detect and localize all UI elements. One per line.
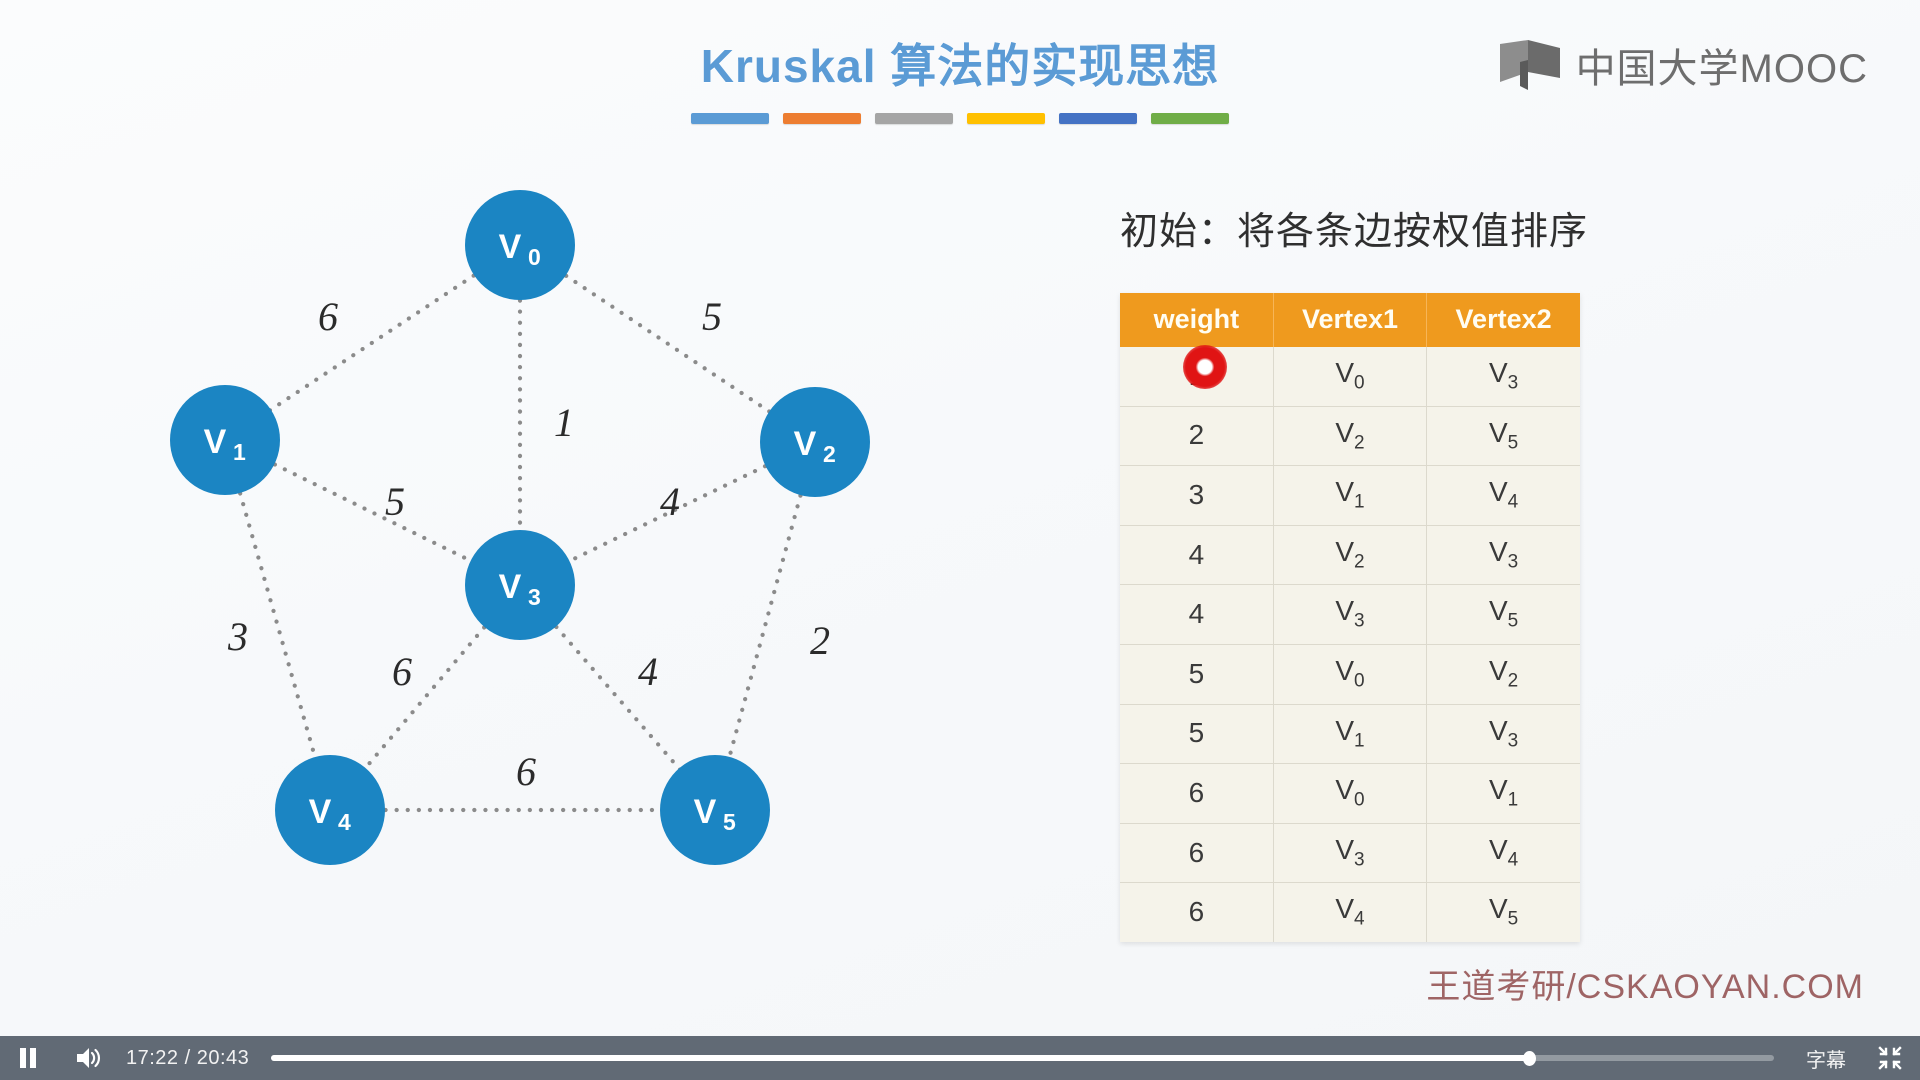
node-v4-label: V	[309, 793, 332, 831]
edge-v2-v5	[715, 442, 815, 810]
graph-node-v4[interactable]: V 4	[275, 755, 385, 865]
table-row[interactable]: 2V2V5	[1120, 406, 1580, 466]
cell-vertex1-index: 0	[1354, 671, 1365, 692]
cell-vertex2-index: 3	[1508, 551, 1519, 572]
cell-vertex2-index: 1	[1508, 790, 1519, 811]
init-caption: 初始：将各条边按权值排序	[1120, 200, 1840, 255]
cell-vertex1-letter: V	[1335, 476, 1354, 507]
cell-vertex2-letter: V	[1489, 417, 1508, 448]
cell-vertex2: V5	[1427, 406, 1580, 466]
underline-seg-1	[691, 113, 769, 124]
cell-weight: 4	[1120, 525, 1273, 585]
cell-vertex1-letter: V	[1335, 834, 1354, 865]
underline-seg-6	[1151, 113, 1229, 124]
cell-vertex2: V3	[1427, 525, 1580, 585]
edge-weight-v1-v4: 3	[227, 614, 248, 659]
cell-vertex1: V3	[1273, 823, 1426, 883]
node-v5-label: V	[694, 793, 717, 831]
cell-vertex2-letter: V	[1489, 834, 1508, 865]
table-row[interactable]: 3V1V4	[1120, 466, 1580, 526]
cell-vertex1-index: 3	[1354, 849, 1365, 870]
node-v4-sub: 4	[338, 809, 351, 835]
cell-vertex2: V5	[1427, 883, 1580, 942]
video-player-controls: 17:22 / 20:43 字幕	[0, 1036, 1920, 1080]
table-row[interactable]: 6V0V1	[1120, 764, 1580, 824]
cell-vertex1: V0	[1273, 644, 1426, 704]
table-row[interactable]: 6V4V5	[1120, 883, 1580, 942]
node-v0-label: V	[499, 228, 522, 266]
fullscreen-button[interactable]	[1860, 1046, 1920, 1070]
cell-weight: 5	[1120, 704, 1273, 764]
graph-node-v5[interactable]: V 5	[660, 755, 770, 865]
node-v2-sub: 2	[823, 441, 836, 467]
cell-vertex2-index: 5	[1508, 611, 1519, 632]
title-underline-bars	[680, 113, 1240, 124]
column-header-vertex1[interactable]: Vertex1	[1273, 293, 1426, 347]
cell-vertex1-index: 2	[1354, 432, 1365, 453]
cell-vertex2: V1	[1427, 764, 1580, 824]
sorted-edge-table: weight Vertex1 Vertex2 1V0V32V2V53V1V44V…	[1120, 293, 1580, 942]
cell-vertex1-letter: V	[1335, 595, 1354, 626]
node-v1-label: V	[204, 423, 227, 461]
edge-weight-v3-v4: 6	[392, 649, 412, 694]
cell-vertex1-index: 0	[1354, 790, 1365, 811]
column-header-vertex2[interactable]: Vertex2	[1427, 293, 1580, 347]
edge-weight-v1-v3: 5	[385, 479, 405, 524]
edge-weight-v4-v5: 6	[516, 749, 536, 794]
cell-weight: 2	[1120, 406, 1273, 466]
progress-bar-thumb[interactable]	[1523, 1051, 1536, 1066]
volume-on-icon	[76, 1047, 102, 1069]
cell-weight: 1	[1120, 347, 1273, 406]
cell-vertex1: V0	[1273, 764, 1426, 824]
progress-bar-track[interactable]	[271, 1055, 1774, 1061]
cell-weight: 5	[1120, 644, 1273, 704]
cell-vertex1-letter: V	[1335, 774, 1354, 805]
table-row[interactable]: 4V3V5	[1120, 585, 1580, 645]
cell-vertex2-letter: V	[1489, 595, 1508, 626]
node-v1-sub: 1	[233, 439, 246, 465]
table-row[interactable]: 1V0V3	[1120, 347, 1580, 406]
cell-vertex1: V4	[1273, 883, 1426, 942]
table-row[interactable]: 6V3V4	[1120, 823, 1580, 883]
cell-vertex2: V3	[1427, 347, 1580, 406]
node-v3-label: V	[499, 568, 522, 606]
cell-weight: 3	[1120, 466, 1273, 526]
cell-vertex1-letter: V	[1335, 655, 1354, 686]
volume-button[interactable]	[60, 1036, 118, 1080]
edge-weight-v2-v5: 2	[810, 618, 830, 663]
table-header-row: weight Vertex1 Vertex2	[1120, 293, 1580, 347]
graph-node-v2[interactable]: V 2	[760, 387, 870, 497]
cell-vertex1: V0	[1273, 347, 1426, 406]
cell-vertex2-letter: V	[1489, 476, 1508, 507]
underline-seg-2	[783, 113, 861, 124]
graph-node-v1[interactable]: V 1	[170, 385, 280, 495]
cell-vertex2-letter: V	[1489, 655, 1508, 686]
underline-seg-5	[1059, 113, 1137, 124]
cell-vertex1: V3	[1273, 585, 1426, 645]
cell-vertex2-letter: V	[1489, 715, 1508, 746]
edge-weight-v2-v3: 4	[660, 479, 680, 524]
mooc-logo-text: 中国大学MOOC	[1576, 36, 1868, 94]
cell-vertex1: V1	[1273, 466, 1426, 526]
cell-vertex2-letter: V	[1489, 357, 1508, 388]
cell-vertex1: V1	[1273, 704, 1426, 764]
edge-weight-v0-v1: 6	[318, 294, 338, 339]
column-header-weight[interactable]: weight	[1120, 293, 1273, 347]
cell-weight: 6	[1120, 764, 1273, 824]
edge-weight-v0-v2: 5	[702, 294, 722, 339]
right-panel: 初始：将各条边按权值排序 weight Vertex1 Vertex2 1V0V…	[1120, 200, 1840, 942]
weighted-graph-diagram: 6 5 1 5 4 3 2 6 4 6 V 0	[40, 170, 1060, 960]
edge-table-body: 1V0V32V2V53V1V44V2V34V3V55V0V25V1V36V0V1…	[1120, 347, 1580, 942]
table-row[interactable]: 5V0V2	[1120, 644, 1580, 704]
graph-node-v3[interactable]: V 3	[465, 530, 575, 640]
slide-canvas: Kruskal 算法的实现思想 中国大学MOOC	[0, 0, 1920, 1042]
cell-vertex2-index: 3	[1508, 373, 1519, 394]
cell-vertex2-index: 5	[1508, 909, 1519, 930]
cell-vertex1-letter: V	[1335, 893, 1354, 924]
cell-vertex2: V2	[1427, 644, 1580, 704]
cell-vertex2-letter: V	[1489, 774, 1508, 805]
graph-edges	[225, 245, 815, 810]
underline-seg-4	[967, 113, 1045, 124]
book-icon	[1498, 38, 1562, 92]
cell-vertex1-index: 2	[1354, 551, 1365, 572]
node-v5-sub: 5	[723, 809, 736, 835]
cell-vertex2-index: 4	[1508, 492, 1519, 513]
cell-vertex1-index: 0	[1354, 373, 1365, 394]
cell-weight: 6	[1120, 883, 1273, 942]
time-display: 17:22 / 20:43	[126, 1047, 249, 1070]
cell-vertex1: V2	[1273, 406, 1426, 466]
cell-vertex2: V4	[1427, 466, 1580, 526]
cell-vertex1-index: 3	[1354, 611, 1365, 632]
cell-vertex2: V5	[1427, 585, 1580, 645]
exit-fullscreen-icon	[1878, 1046, 1902, 1070]
pause-button[interactable]	[0, 1036, 56, 1080]
cell-vertex2-index: 2	[1508, 671, 1519, 692]
table-row[interactable]: 4V2V3	[1120, 525, 1580, 585]
cell-vertex2-index: 5	[1508, 432, 1519, 453]
mooc-logo: 中国大学MOOC	[1498, 36, 1868, 94]
subtitle-button[interactable]: 字幕	[1792, 1044, 1860, 1073]
pause-icon	[18, 1047, 38, 1069]
cell-vertex2: V4	[1427, 823, 1580, 883]
node-v3-sub: 3	[528, 584, 541, 610]
table-row[interactable]: 5V1V3	[1120, 704, 1580, 764]
cell-vertex1-index: 4	[1354, 909, 1365, 930]
cell-vertex1-letter: V	[1335, 715, 1354, 746]
cell-vertex2-index: 3	[1508, 730, 1519, 751]
cell-vertex1-letter: V	[1335, 357, 1354, 388]
cell-vertex1: V2	[1273, 525, 1426, 585]
edge-weight-v0-v3: 1	[554, 400, 574, 445]
video-player-stage: Kruskal 算法的实现思想 中国大学MOOC	[0, 0, 1920, 1080]
node-v0-sub: 0	[528, 244, 541, 270]
cell-vertex1-letter: V	[1335, 536, 1354, 567]
cell-weight: 4	[1120, 585, 1273, 645]
cell-vertex2-letter: V	[1489, 536, 1508, 567]
underline-seg-3	[875, 113, 953, 124]
progress-bar-fill	[271, 1055, 1529, 1061]
cell-vertex2: V3	[1427, 704, 1580, 764]
cell-vertex1-index: 1	[1354, 730, 1365, 751]
cell-vertex2-index: 4	[1508, 849, 1519, 870]
cell-weight: 6	[1120, 823, 1273, 883]
node-v2-label: V	[794, 425, 817, 463]
cell-vertex1-letter: V	[1335, 417, 1354, 448]
cell-vertex1-index: 1	[1354, 492, 1365, 513]
watermark-text: 王道考研/CSKAOYAN.COM	[1426, 959, 1864, 1008]
graph-node-v0[interactable]: V 0	[465, 190, 575, 300]
edge-weight-v3-v5: 4	[638, 649, 658, 694]
edge-table-wrapper: weight Vertex1 Vertex2 1V0V32V2V53V1V44V…	[1120, 293, 1580, 942]
cell-vertex2-letter: V	[1489, 893, 1508, 924]
